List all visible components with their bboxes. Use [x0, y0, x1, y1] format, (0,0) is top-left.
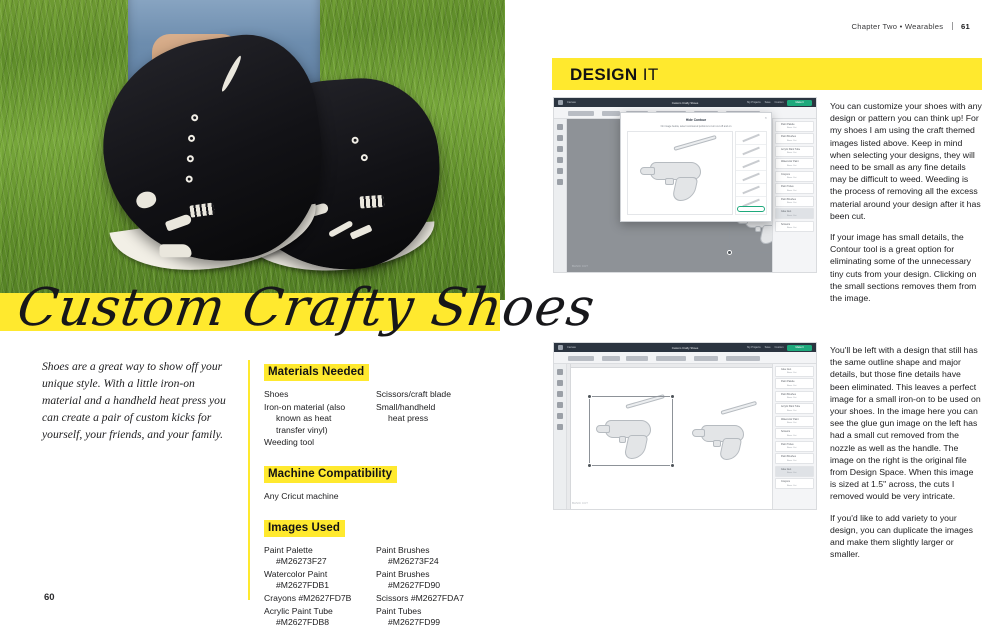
left-page: Custom Crafty Shoes Shoes are a great wa…: [0, 0, 510, 625]
ds2-top-bar: Canvas Custom Crafty Shoes My Projects S…: [554, 343, 816, 352]
ds2-selection-box[interactable]: [589, 396, 673, 466]
info-column: Scissors/craft bladeSmall/handheldheat p…: [376, 389, 476, 450]
column-divider: [248, 360, 250, 600]
eyelet: [185, 175, 193, 183]
list-item-label: Watercolor Paint: [264, 569, 327, 579]
info-column: Any Cricut machine: [264, 491, 364, 504]
layer-linetype: Basic Cut: [787, 435, 796, 437]
layer-name: Acrylic Paint Tube: [781, 148, 800, 151]
layer-linetype: Basic Cut: [787, 202, 796, 204]
list-item: Any Cricut machine: [264, 491, 484, 503]
page-title: Custom Crafty Shoes: [12, 268, 503, 348]
ds2-rail-icon[interactable]: [557, 380, 563, 386]
layer-name: Acrylic Paint Tube: [781, 405, 800, 408]
layer-name: Paint Palette: [781, 380, 795, 383]
ds1-left-rail[interactable]: [554, 119, 567, 272]
design-it-band: DESIGN IT: [552, 58, 982, 90]
list-item: Watercolor Paint#M2627FDB1: [264, 569, 364, 592]
layer-name: Glue Gun: [781, 368, 791, 371]
eyelet: [188, 134, 196, 142]
book-spread: Custom Crafty Shoes Shoes are a great wa…: [0, 0, 1000, 625]
ds1-app-title: Custom Crafty Shoes: [554, 101, 816, 105]
body-top-p1: You can customize your shoes with any de…: [830, 100, 982, 222]
layer-name: Paint Tubes: [781, 185, 794, 188]
layer-name: Paint Palette: [781, 123, 795, 126]
layer-row[interactable]: Paint BrushesBasic Cut: [775, 133, 814, 144]
list-item-label: Crayons #M2627FD7B: [264, 593, 351, 603]
layer-row[interactable]: CrayonsBasic Cut: [775, 478, 814, 489]
body-bottom-p2: If you'd like to add variety to your des…: [830, 512, 982, 561]
list-item-label: Acrylic Paint Tube: [264, 606, 333, 616]
info-section: Images UsedPaint Palette#M26273F27Waterc…: [264, 518, 494, 625]
layer-name: Scissors: [781, 223, 790, 226]
layer-linetype: Basic Cut: [787, 385, 796, 387]
ds2-rail-icon[interactable]: [557, 402, 563, 408]
motif-palette: [134, 189, 158, 210]
list-item-label: Paint Palette: [264, 545, 313, 555]
contour-thumb[interactable]: [736, 184, 766, 197]
layer-row[interactable]: Glue GunBasic Cut: [775, 366, 814, 377]
layer-linetype: Basic Cut: [787, 422, 796, 424]
layer-linetype: Basic Cut: [787, 165, 796, 167]
motif-crayons: [360, 195, 385, 209]
info-column: ShoesIron-on material (alsoknown as heat…: [264, 389, 364, 450]
contour-thumb-list[interactable]: [735, 131, 767, 215]
list-item: Paint Palette#M26273F27: [264, 545, 364, 568]
layer-row[interactable]: Acrylic Paint TubeBasic Cut: [775, 403, 814, 414]
eyelet: [191, 114, 199, 122]
list-item: Shoes: [264, 389, 364, 401]
ds1-watermark: BASIC CUT: [572, 264, 588, 268]
list-item: Small/handheldheat press: [376, 402, 476, 425]
layer-row[interactable]: Paint PaletteBasic Cut: [775, 121, 814, 132]
ds2-left-rail[interactable]: [554, 364, 567, 509]
layer-row[interactable]: Glue GunBasic Cut: [775, 466, 814, 477]
layer-linetype: Basic Cut: [787, 227, 796, 229]
layer-linetype: Basic Cut: [787, 152, 796, 154]
layer-linetype: Basic Cut: [787, 177, 796, 179]
layer-linetype: Basic Cut: [787, 372, 796, 374]
layer-row[interactable]: CrayonsBasic Cut: [775, 171, 814, 182]
ds2-rail-icon[interactable]: [557, 424, 563, 430]
body-top-p2: If your image has small details, the Con…: [830, 231, 982, 304]
list-item: Iron-on material (alsoknown as heattrans…: [264, 402, 364, 437]
list-item-label: Small/handheld: [376, 402, 435, 412]
running-head-rule: [952, 22, 953, 30]
list-item-label: Any Cricut machine: [264, 491, 339, 501]
right-page: Chapter Two • Wearables 61 DESIGN IT Can…: [510, 0, 1000, 625]
hide-contour-subtitle: On image below, select contoured portion…: [621, 125, 771, 128]
running-head: Chapter Two • Wearables 61: [852, 22, 970, 31]
layer-linetype: Basic Cut: [787, 397, 796, 399]
info-column: Paint Palette#M26273F27Watercolor Paint#…: [264, 545, 364, 625]
layer-row[interactable]: Paint BrushesBasic Cut: [775, 391, 814, 402]
layer-row[interactable]: ScissorsBasic Cut: [775, 428, 814, 439]
body-column-bottom: You'll be left with a design that still …: [830, 344, 982, 569]
ds2-layers-panel[interactable]: Glue GunBasic CutPaint PaletteBasic CutP…: [772, 364, 816, 509]
design-it-label: DESIGN IT: [570, 65, 659, 85]
layer-name: Paint Brushes: [781, 198, 796, 201]
contour-gluegun[interactable]: [636, 142, 721, 204]
left-page-info-column: Materials NeededShoesIron-on material (a…: [264, 362, 494, 625]
ds2-gluegun-original[interactable]: [689, 406, 761, 464]
info-section: Materials NeededShoesIron-on material (a…: [264, 362, 494, 450]
running-head-chapter: Chapter Two: [852, 22, 898, 31]
info-column: Paint Brushes#M26273F24Paint Brushes#M26…: [376, 545, 476, 625]
ds2-ruler-horizontal: [567, 364, 772, 368]
contour-thumb[interactable]: [736, 158, 766, 171]
running-head-bullet: •: [900, 22, 903, 31]
list-item-label: Paint Brushes: [376, 545, 430, 555]
list-item-continuation: heat press: [376, 413, 476, 425]
layer-row[interactable]: Acrylic Paint TubeBasic Cut: [775, 146, 814, 157]
ds1-layers-panel[interactable]: Paint PaletteBasic CutPaint BrushesBasic…: [772, 119, 816, 272]
ds1-rail-icon[interactable]: [557, 179, 563, 185]
motif-swoosh: [220, 55, 244, 93]
layer-row[interactable]: Watercolor PaintBasic Cut: [775, 416, 814, 427]
list-item-continuation: #M2627FD90: [376, 580, 476, 592]
ds2-app-title: Custom Crafty Shoes: [554, 346, 816, 350]
motif-crayons: [189, 202, 214, 217]
list-item-continuation: #M2627FD99: [376, 617, 476, 625]
layer-name: Paint Brushes: [781, 393, 796, 396]
design-it-bold: DESIGN: [570, 65, 638, 84]
hide-contour-preview[interactable]: [627, 131, 733, 215]
list-item-continuation: transfer vinyl): [264, 425, 364, 437]
layer-name: Glue Gun: [781, 468, 791, 471]
ds2-rail-icon[interactable]: [557, 391, 563, 397]
layer-linetype: Basic Cut: [787, 410, 796, 412]
ds2-watermark: BASIC CUT: [572, 501, 588, 505]
list-item: Scissors #M2627FDA7: [376, 593, 476, 605]
hide-contour-title: Hide Contour: [621, 118, 771, 122]
info-section-columns: Any Cricut machine: [264, 491, 494, 504]
layer-linetype: Basic Cut: [787, 447, 796, 449]
hide-all-contours-button[interactable]: [737, 206, 765, 212]
list-item-label: Iron-on material (also: [264, 402, 345, 412]
motif-glue-gun: [160, 244, 192, 257]
layer-row[interactable]: Paint TubesBasic Cut: [775, 183, 814, 194]
hide-contour-dialog[interactable]: × Hide Contour On image below, select co…: [620, 112, 772, 222]
layer-linetype: Basic Cut: [787, 485, 796, 487]
list-item-label: Paint Tubes: [376, 606, 421, 616]
list-item-label: Weeding tool: [264, 437, 314, 447]
list-item-continuation: known as heat: [264, 413, 364, 425]
ds2-toolbar[interactable]: [554, 352, 816, 364]
ds1-rail-icon[interactable]: [557, 135, 563, 141]
info-section-heading: Materials Needed: [264, 364, 369, 381]
design-it-light: IT: [643, 65, 659, 84]
layer-name: Paint Brushes: [781, 135, 796, 138]
ds1-top-bar: Canvas Custom Crafty Shoes My Projects S…: [554, 98, 816, 107]
info-section-columns: ShoesIron-on material (alsoknown as heat…: [264, 389, 494, 450]
layer-linetype: Basic Cut: [787, 460, 796, 462]
list-item-label: Scissors/craft blade: [376, 389, 451, 399]
screenshot-contour-dialog: Canvas Custom Crafty Shoes My Projects S…: [553, 97, 817, 273]
layer-name: Glue Gun: [781, 210, 791, 213]
ds2-rail-icon[interactable]: [557, 413, 563, 419]
list-item-continuation: #M26273F27: [264, 556, 364, 568]
ds1-rail-icon[interactable]: [557, 168, 563, 174]
list-item-label: Scissors #M2627FDA7: [376, 593, 464, 603]
layer-row[interactable]: ScissorsBasic Cut: [775, 221, 814, 232]
layer-row[interactable]: Paint TubesBasic Cut: [775, 441, 814, 452]
layer-linetype: Basic Cut: [787, 190, 796, 192]
list-item: Paint Brushes#M26273F24: [376, 545, 476, 568]
info-section-columns: Paint Palette#M26273F27Watercolor Paint#…: [264, 545, 494, 625]
ds1-rail-icon[interactable]: [557, 146, 563, 152]
list-item-label: Shoes: [264, 389, 288, 399]
info-section: Machine CompatibilityAny Cricut machine: [264, 464, 494, 504]
page-number-left: 60: [44, 592, 55, 603]
list-item-continuation: #M2627FDB8: [264, 617, 364, 625]
layer-row[interactable]: Glue GunBasic Cut: [775, 208, 814, 219]
contour-thumb[interactable]: [736, 145, 766, 158]
ds1-rail-icon[interactable]: [557, 124, 563, 130]
close-icon[interactable]: ×: [765, 116, 767, 120]
list-item: Scissors/craft blade: [376, 389, 476, 401]
eyelet: [186, 155, 194, 163]
ds1-rail-icon[interactable]: [557, 157, 563, 163]
intro-paragraph: Shoes are a great way to show off your u…: [42, 358, 234, 443]
layer-name: Watercolor Paint: [781, 160, 799, 163]
layer-name: Crayons: [781, 480, 790, 483]
eyelet: [361, 154, 368, 161]
screenshot-canvas-two-guns: Canvas Custom Crafty Shoes My Projects S…: [553, 342, 817, 510]
info-section-heading: Images Used: [264, 520, 345, 537]
layer-name: Paint Tubes: [781, 443, 794, 446]
layer-name: Scissors: [781, 430, 790, 433]
motif-brush: [350, 224, 373, 239]
motif-paint-tube: [165, 213, 193, 231]
layer-linetype: Basic Cut: [787, 140, 796, 142]
sneaker-photo: [0, 0, 505, 300]
list-item-continuation: #M2627FDB1: [264, 580, 364, 592]
layer-row[interactable]: Paint PaletteBasic Cut: [775, 378, 814, 389]
layer-name: Watercolor Paint: [781, 418, 799, 421]
list-item: Acrylic Paint Tube#M2627FDB8: [264, 606, 364, 625]
layer-linetype: Basic Cut: [787, 127, 796, 129]
layer-row[interactable]: Paint BrushesBasic Cut: [775, 196, 814, 207]
layer-row[interactable]: Watercolor PaintBasic Cut: [775, 158, 814, 169]
page-number-right: 61: [961, 22, 970, 31]
ds2-canvas[interactable]: BASIC CUT: [567, 364, 772, 509]
list-item-label: Paint Brushes: [376, 569, 430, 579]
layer-linetype: Basic Cut: [787, 472, 796, 474]
info-section-heading: Machine Compatibility: [264, 466, 397, 483]
ds2-rail-icon[interactable]: [557, 369, 563, 375]
ds2-ruler-vertical: [567, 364, 571, 509]
body-bottom-p1: You'll be left with a design that still …: [830, 344, 982, 503]
list-item: Crayons #M2627FD7B: [264, 593, 364, 605]
running-head-section: Wearables: [905, 22, 943, 31]
layer-linetype: Basic Cut: [787, 215, 796, 217]
list-item: Paint Brushes#M2627FD90: [376, 569, 476, 592]
list-item: Paint Tubes#M2627FD99: [376, 606, 476, 625]
contour-thumb[interactable]: [736, 171, 766, 184]
eyelet: [351, 136, 358, 143]
layer-name: Crayons: [781, 173, 790, 176]
layer-name: Paint Brushes: [781, 455, 796, 458]
layer-row[interactable]: Paint BrushesBasic Cut: [775, 453, 814, 464]
list-item: Weeding tool: [264, 437, 364, 449]
list-item-continuation: #M26273F24: [376, 556, 476, 568]
contour-thumb[interactable]: [736, 132, 766, 145]
body-column-top: You can customize your shoes with any de…: [830, 100, 982, 313]
